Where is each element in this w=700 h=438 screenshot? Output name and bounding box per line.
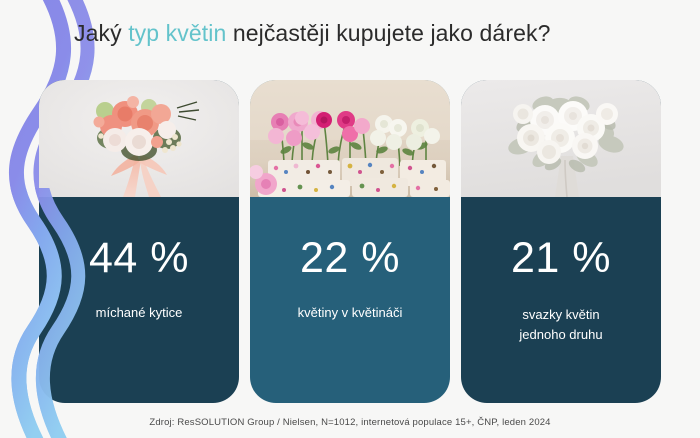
stat-label-line-2: jednoho druhu	[476, 325, 646, 345]
stat-card-mixed-bouquets: 44 % míchané kytice	[39, 80, 239, 403]
stat-card-potted-flowers: 22 % květiny v květináči	[250, 80, 450, 403]
card-body-potted-flowers: 22 % květiny v květináči	[250, 197, 450, 403]
page-title: Jaký typ květin nejčastěji kupujete jako…	[74, 18, 674, 48]
card-photo-white-roses	[461, 80, 661, 197]
stat-percent: 44 %	[89, 235, 189, 281]
card-body-mixed-bouquets: 44 % míchané kytice	[39, 197, 239, 403]
stat-label: míchané kytice	[54, 303, 224, 323]
stat-percent: 21 %	[511, 235, 611, 281]
stat-card-single-species-bunches: 21 % svazky květin jednoho druhu	[461, 80, 661, 403]
stat-label-line-1: svazky květin	[476, 305, 646, 325]
stat-label: svazky květin jednoho druhu	[476, 305, 646, 345]
title-suffix: nejčastěji kupujete jako dárek?	[226, 20, 550, 46]
card-photo-potted-flowers	[250, 80, 450, 197]
card-body-single-species-bunches: 21 % svazky květin jednoho druhu	[461, 197, 661, 403]
title-prefix: Jaký	[74, 20, 128, 46]
stat-label: květiny v květináči	[265, 303, 435, 323]
stat-percent: 22 %	[300, 235, 400, 281]
source-note: Zdroj: ResSOLUTION Group / Nielsen, N=10…	[0, 417, 700, 428]
stat-card-group: 44 % míchané kytice	[39, 80, 661, 403]
title-highlight: typ květin	[128, 20, 226, 46]
infographic-root: Jaký typ květin nejčastěji kupujete jako…	[0, 0, 700, 438]
card-photo-mixed-bouquets	[39, 80, 239, 197]
